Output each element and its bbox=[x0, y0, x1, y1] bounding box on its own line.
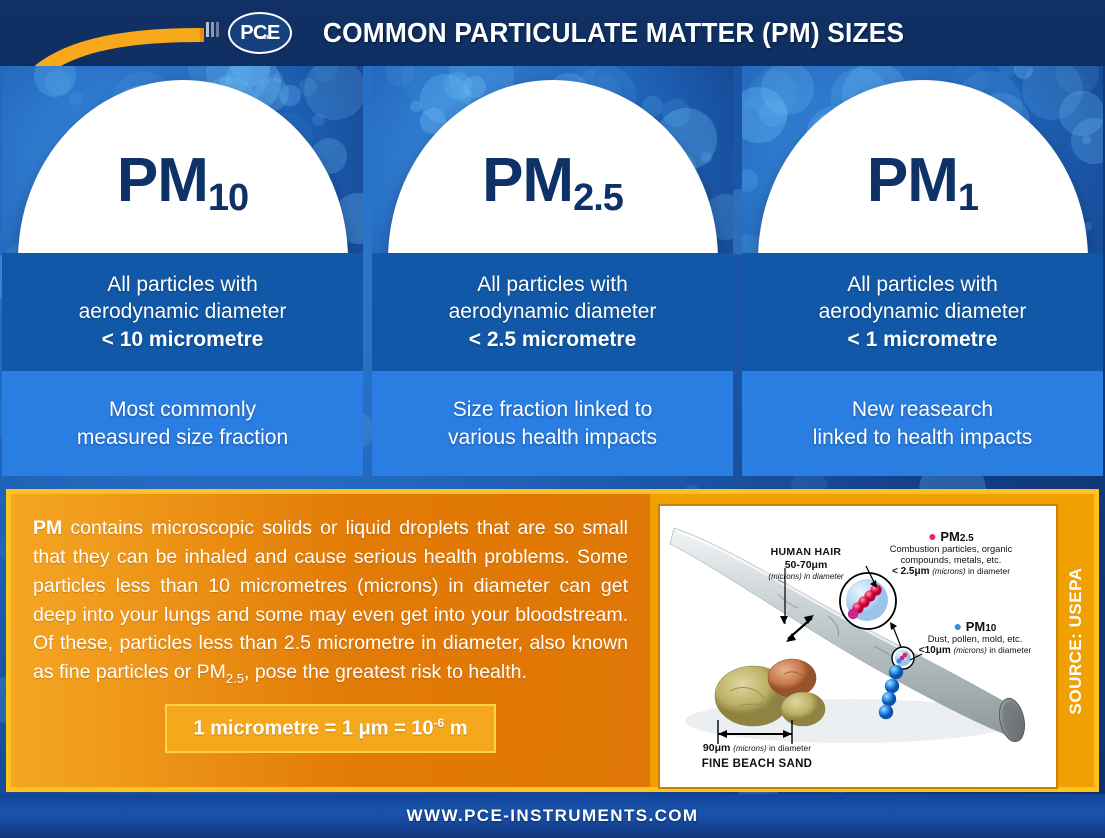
info-panel: PM contains microscopic solids or liquid… bbox=[6, 489, 1099, 792]
definition-line-2: aerodynamic diameter bbox=[819, 300, 1027, 323]
formula-exponent: -6 bbox=[434, 716, 445, 730]
info-panel-text-column: PM contains microscopic solids or liquid… bbox=[11, 494, 650, 787]
epa-label-pm25-size: < 2.5μm (microns) in diameter bbox=[856, 566, 1046, 578]
epa-label-pm10-size: <10μm (microns) in diameter bbox=[896, 645, 1054, 657]
pm-definition-band: All particles with aerodynamic diameter … bbox=[2, 253, 363, 371]
pm-card-pm25: PM2.5 All particles with aerodynamic dia… bbox=[372, 66, 733, 476]
definition-line-1: All particles with bbox=[107, 273, 258, 296]
epa-label-pm25-desc2: compounds, metals, etc. bbox=[856, 555, 1046, 566]
formula-part-b: m bbox=[444, 718, 467, 740]
definition-line-2: aerodynamic diameter bbox=[79, 300, 287, 323]
pm-note-band: New reasearch linked to health impacts bbox=[742, 371, 1103, 476]
definition-threshold: < 1 micrometre bbox=[847, 328, 997, 351]
footer-url[interactable]: WWW.PCE-INSTRUMENTS.COM bbox=[407, 806, 699, 826]
pm-definition-band: All particles with aerodynamic diameter … bbox=[372, 253, 733, 371]
info-panel-image-column: HUMAN HAIR 50-70μm (microns) in diameter… bbox=[650, 494, 1094, 787]
pm-card-pm1: PM1 All particles with aerodynamic diame… bbox=[742, 66, 1103, 476]
paragraph-body-1: contains microscopic solids or liquid dr… bbox=[33, 517, 628, 683]
note-line-2: various health impacts bbox=[448, 426, 657, 449]
paragraph-subscript: 2.5 bbox=[226, 671, 244, 686]
epa-label-pm10-title: ● PM10 bbox=[900, 618, 1050, 635]
micrometre-formula-box: 1 micrometre = 1 μm = 10-6 m bbox=[165, 704, 495, 753]
epa-label-pm25-desc1: Combustion particles, organic bbox=[856, 544, 1046, 555]
pm-note-band: Size fraction linked to various health i… bbox=[372, 371, 733, 476]
definition-line-1: All particles with bbox=[847, 273, 998, 296]
infographic-page: PCEmbH COMMON PARTICULATE MATTER (PM) SI… bbox=[0, 0, 1105, 838]
formula-part-a: 1 micrometre = 1 μm = 10 bbox=[193, 718, 433, 740]
page-title: COMMON PARTICULATE MATTER (PM) SIZES bbox=[33, 0, 1072, 66]
paragraph-lead: PM bbox=[33, 517, 62, 539]
pm10-dot-icon: ● bbox=[954, 618, 962, 634]
pm-description-paragraph: PM contains microscopic solids or liquid… bbox=[33, 514, 628, 688]
note-line-2: linked to health impacts bbox=[813, 426, 1032, 449]
epa-label-human-hair: HUMAN HAIR bbox=[752, 546, 860, 558]
note-line-1: New reasearch bbox=[852, 398, 993, 421]
pm-card-title: PM1 bbox=[742, 150, 1103, 212]
pm25-dot-icon: ● bbox=[928, 528, 936, 544]
definition-line-1: All particles with bbox=[477, 273, 628, 296]
definition-threshold: < 2.5 micrometre bbox=[469, 328, 637, 351]
epa-label-human-hair-size: 50-70μm bbox=[752, 559, 860, 571]
page-footer: WWW.PCE-INSTRUMENTS.COM bbox=[0, 794, 1105, 838]
pm-card-title: PM2.5 bbox=[372, 150, 733, 212]
epa-label-human-hair-note: (microns) in diameter bbox=[746, 572, 866, 581]
source-attribution: SOURCE: USEPA bbox=[1058, 504, 1094, 777]
epa-label-pm25-title: ● PM2.5 bbox=[856, 528, 1046, 545]
epa-label-pm10-desc1: Dust, pollen, mold, etc. bbox=[900, 634, 1050, 645]
definition-threshold: < 10 micrometre bbox=[102, 328, 264, 351]
definition-line-2: aerodynamic diameter bbox=[449, 300, 657, 323]
note-line-1: Most commonly bbox=[109, 398, 256, 421]
pm-definition-band: All particles with aerodynamic diameter … bbox=[742, 253, 1103, 371]
pm-cards-row: PM10 All particles with aerodynamic diam… bbox=[0, 66, 1105, 476]
pm-card-title: PM10 bbox=[2, 150, 363, 212]
page-header: PCEmbH COMMON PARTICULATE MATTER (PM) SI… bbox=[0, 0, 1105, 66]
pm-card-pm10: PM10 All particles with aerodynamic diam… bbox=[2, 66, 363, 476]
epa-label-sand-size: 90μm (microns) in diameter bbox=[682, 742, 832, 754]
note-line-2: measured size fraction bbox=[77, 426, 288, 449]
note-line-1: Size fraction linked to bbox=[453, 398, 653, 421]
usepa-size-comparison-diagram: HUMAN HAIR 50-70μm (microns) in diameter… bbox=[658, 504, 1058, 789]
paragraph-body-2: , pose the greatest risk to health. bbox=[244, 661, 527, 683]
epa-label-sand-title: FINE BEACH SAND bbox=[682, 758, 832, 771]
pm-note-band: Most commonly measured size fraction bbox=[2, 371, 363, 476]
